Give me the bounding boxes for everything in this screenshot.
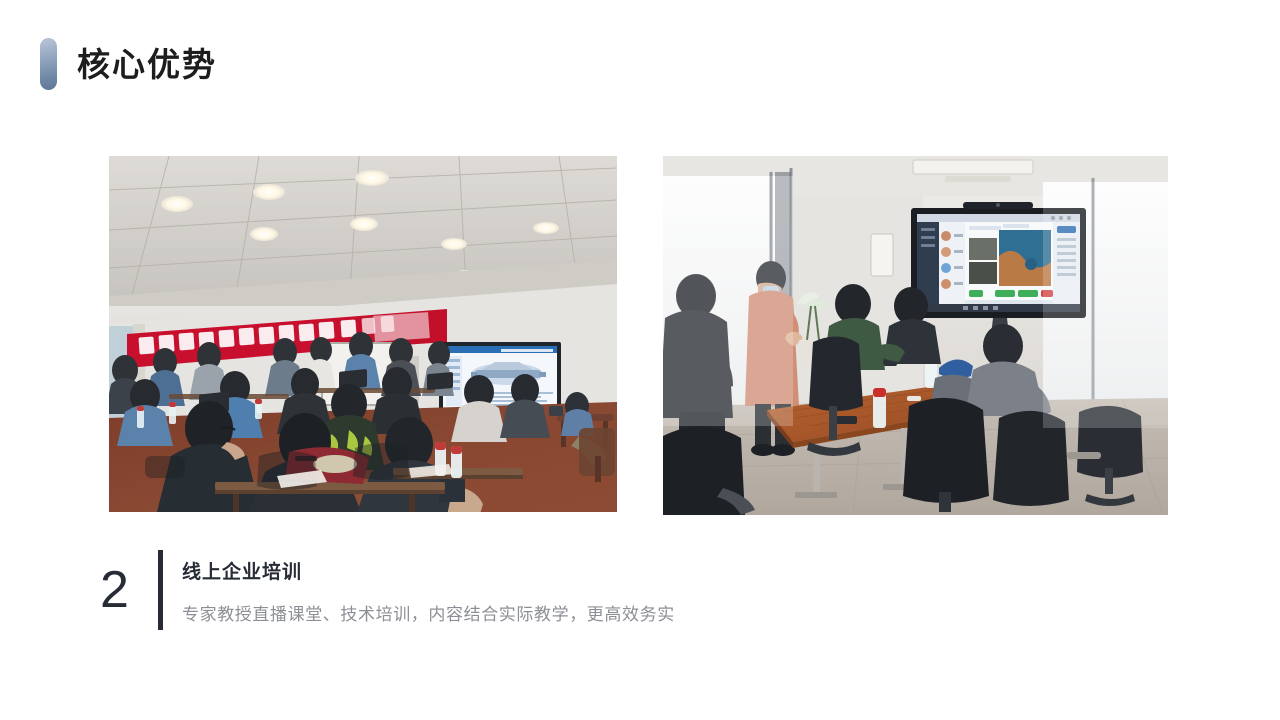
slide-canvas: 核心优势: [0, 0, 1280, 720]
caption-text-group: 线上企业培训 专家教授直播课堂、技术培训，内容结合实际教学，更高效务实: [182, 550, 675, 630]
slide-title-row: 核心优势: [40, 38, 217, 90]
caption-number: 2: [100, 550, 158, 630]
meeting-room-photo-graphic: [663, 156, 1168, 515]
classroom-photo-graphic: [109, 156, 617, 512]
classroom-training-photo: [109, 156, 617, 512]
caption-block: 2 线上企业培训 专家教授直播课堂、技术培训，内容结合实际教学，更高效务实: [100, 550, 675, 630]
page-title: 核心优势: [77, 48, 217, 81]
caption-heading: 线上企业培训: [182, 557, 675, 584]
online-meeting-room-photo: [663, 156, 1168, 515]
caption-divider: [158, 550, 163, 630]
caption-subtitle: 专家教授直播课堂、技术培训，内容结合实际教学，更高效务实: [182, 600, 675, 625]
title-accent-bar-icon: [40, 38, 57, 90]
